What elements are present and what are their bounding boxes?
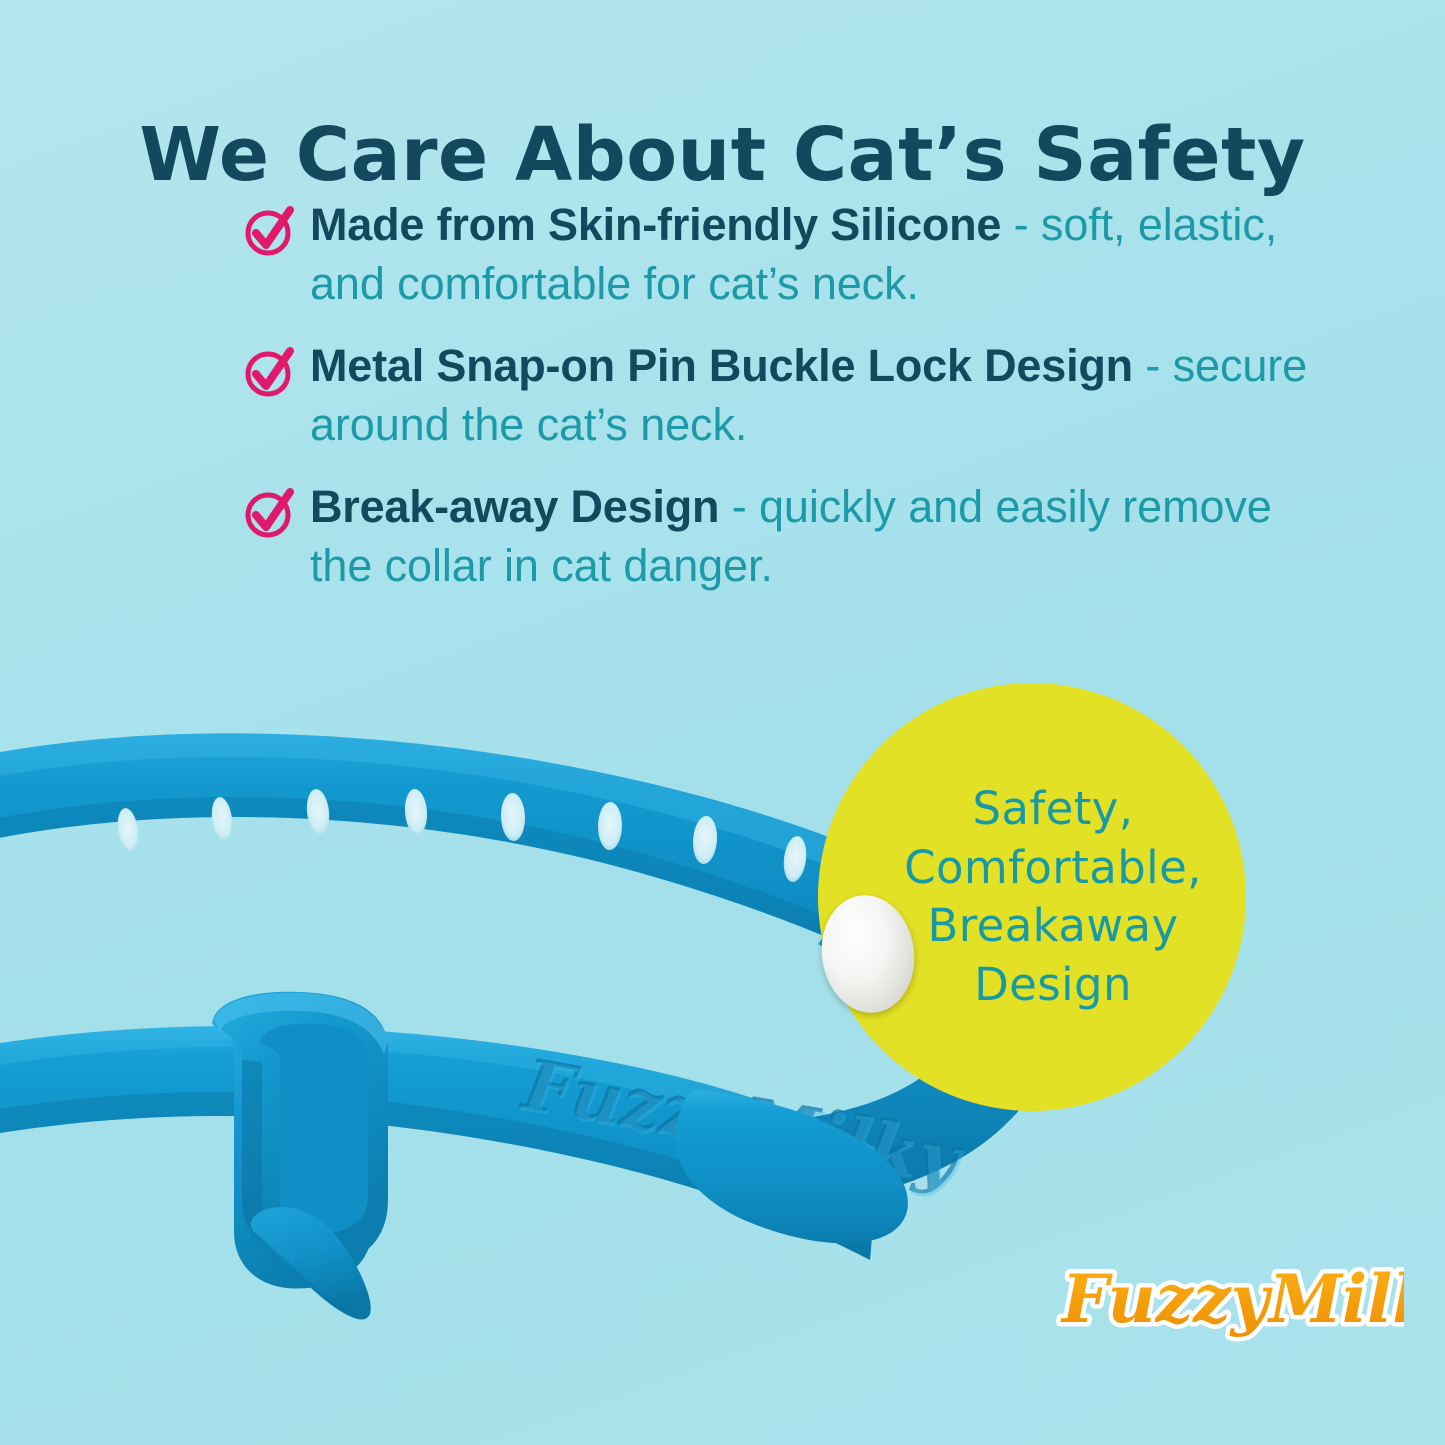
- status-badge: Safety, Comfortable, Breakaway Design: [818, 683, 1246, 1111]
- circle-check-icon: [243, 345, 297, 399]
- feature-list: Made from Skin-friendly Silicone - soft,…: [243, 196, 1333, 619]
- product-infographic: FuzzyMilky FuzzyMilky We Care Abo: [0, 0, 1445, 1445]
- brand-logo-text: FuzzyMilky: [1060, 1260, 1404, 1338]
- list-item: Metal Snap-on Pin Buckle Lock Design - s…: [243, 337, 1333, 454]
- list-item-text: Metal Snap-on Pin Buckle Lock Design - s…: [310, 337, 1333, 454]
- list-item-text: Made from Skin-friendly Silicone - soft,…: [310, 196, 1333, 313]
- list-item-text: Break-away Design - quickly and easily r…: [310, 478, 1333, 595]
- badge-line-3: Breakaway: [888, 897, 1218, 956]
- page-title: We Care About Cat’s Safety: [0, 112, 1445, 198]
- brand-logo: FuzzyMilky FuzzyMilky: [1054, 1236, 1404, 1356]
- feature-title: Metal Snap-on Pin Buckle Lock Design: [310, 340, 1133, 391]
- badge-line-4: Design: [888, 956, 1218, 1015]
- badge-line-1: Safety,: [888, 780, 1218, 839]
- list-item: Break-away Design - quickly and easily r…: [243, 478, 1333, 595]
- feature-title: Break-away Design: [310, 481, 719, 532]
- feature-title: Made from Skin-friendly Silicone: [310, 199, 1001, 250]
- circle-check-icon: [243, 204, 297, 258]
- circle-check-icon: [243, 486, 297, 540]
- badge-line-2: Comfortable,: [888, 839, 1218, 898]
- list-item: Made from Skin-friendly Silicone - soft,…: [243, 196, 1333, 313]
